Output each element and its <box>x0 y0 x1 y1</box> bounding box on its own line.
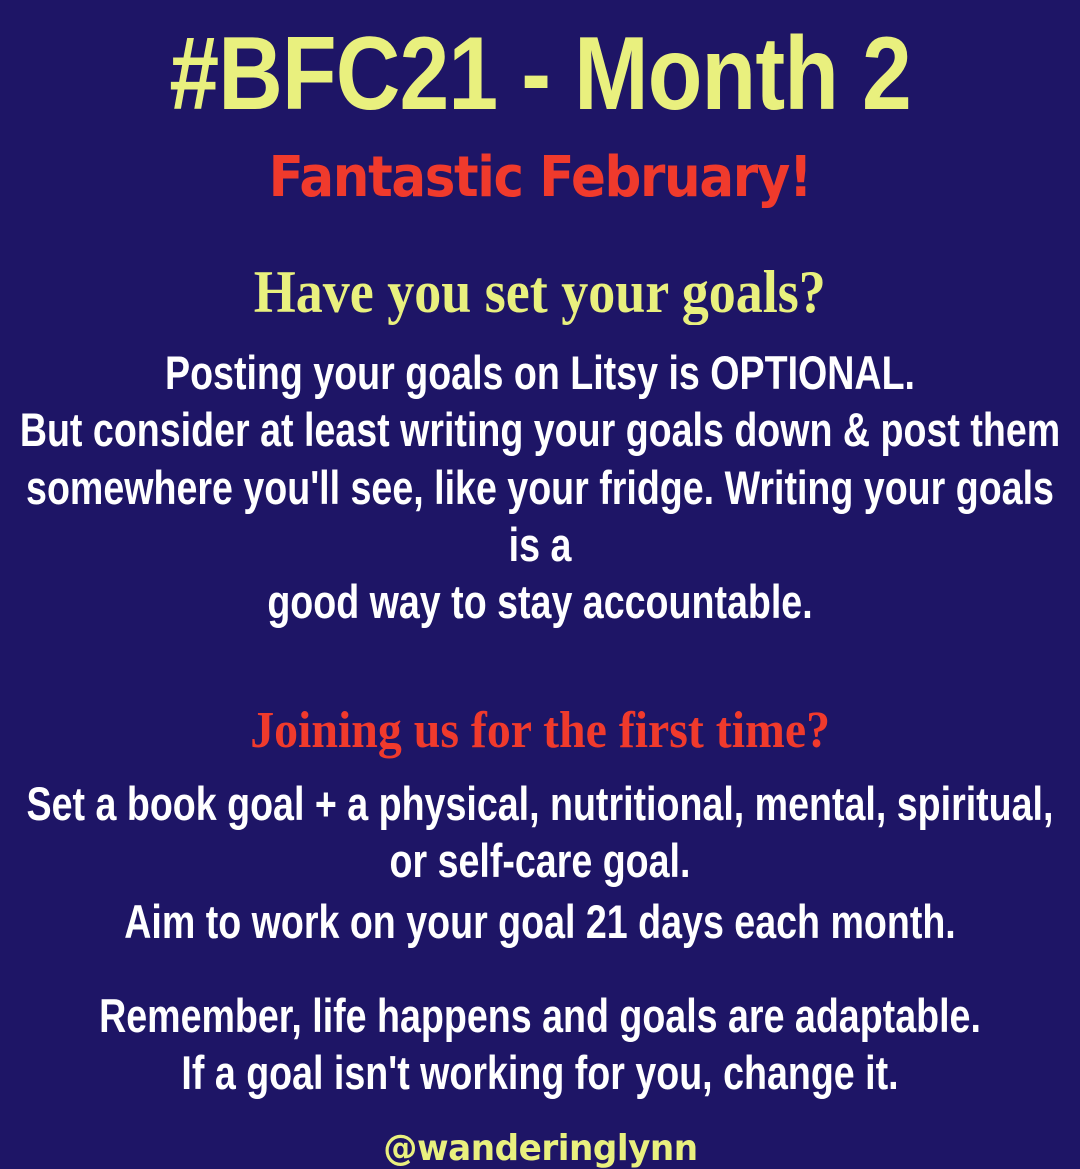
author-handle: @wanderinglynn <box>383 1131 697 1167</box>
poster-subtitle: Fantastic February! <box>269 150 811 206</box>
section-body-newcomers: Set a book goal + a physical, nutritiona… <box>12 775 1068 890</box>
closing-note: Remember, life happens and goals are ada… <box>12 987 1068 1102</box>
poster-canvas: #BFC21 - Month 2 Fantastic February! Hav… <box>0 0 1080 1080</box>
section-body-goals: Posting your goals on Litsy is OPTIONAL.… <box>12 344 1068 631</box>
poster-title: #BFC21 - Month 2 <box>169 22 911 126</box>
section-heading-goals: Have you set your goals? <box>254 262 826 322</box>
section-body-aim: Aim to work on your goal 21 days each mo… <box>12 893 1068 950</box>
section-heading-newcomers: Joining us for the first time? <box>250 705 830 757</box>
